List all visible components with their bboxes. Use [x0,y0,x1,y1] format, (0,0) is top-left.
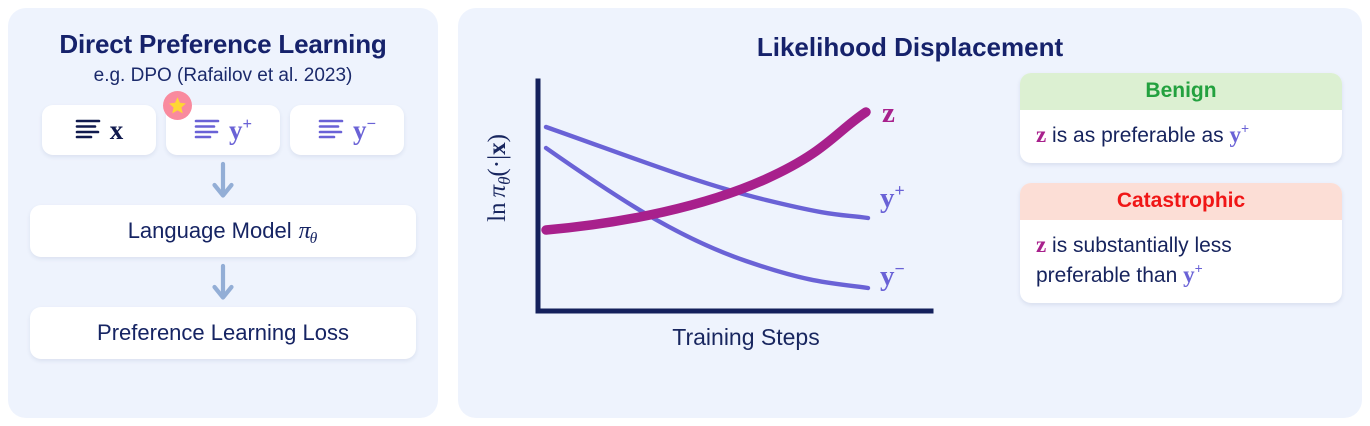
left-panel-title: Direct Preference Learning [30,30,416,59]
token-box-row: x [30,105,416,155]
curve-y-minus [546,148,868,288]
token-symbol-x: x [110,117,124,144]
token-box-dispreferred[interactable]: y− [290,105,404,155]
figure-root: Direct Preference Learning e.g. DPO (Raf… [0,0,1370,426]
symbol-z: z [1036,232,1046,257]
likelihood-displacement-panel: Likelihood Displacement ln πθ(·|x) [458,8,1362,418]
catastrophic-card-body: z is substantially less preferable than … [1020,220,1342,303]
arrow-model-to-loss [30,263,416,303]
preference-learning-loss-box[interactable]: Preference Learning Loss [30,307,416,359]
star-badge-icon [163,91,192,120]
curve-label-y-minus: y− [880,262,905,291]
arrow-tokens-to-model [30,161,416,201]
right-panel-title: Likelihood Displacement [476,32,1344,63]
left-panel-subtitle: e.g. DPO (Rafailov et al. 2023) [30,65,416,88]
catastrophic-card-header: Catastrophic [1020,183,1342,220]
preference-learning-loss-label: Preference Learning Loss [97,320,349,346]
chart-svg [476,69,996,359]
right-panel-body: ln πθ(·|x) z y+ y− Tra [476,69,1344,359]
benign-card: Benign z is as preferable as y+ [1020,73,1342,163]
direct-preference-learning-panel: Direct Preference Learning e.g. DPO (Raf… [8,8,438,418]
language-model-box[interactable]: Language Modelπθ [30,205,416,257]
symbol-y-plus: y+ [1183,262,1203,287]
document-lines-icon [194,117,220,144]
language-model-label: Language Model [128,218,292,244]
symbol-z: z [1036,122,1046,147]
chart-x-axis-label: Training Steps [536,324,956,351]
outcome-cards: Benign z is as preferable as y+ Catastro… [1020,73,1342,303]
curve-label-z: z [882,99,895,128]
benign-card-body: z is as preferable as y+ [1020,110,1342,163]
token-box-prompt[interactable]: x [42,105,156,155]
document-lines-icon [75,117,101,144]
benign-card-text: is as preferable as [1046,124,1229,147]
symbol-y-plus: y+ [1229,122,1249,147]
likelihood-chart: ln πθ(·|x) z y+ y− Tra [476,69,996,359]
pi-theta-symbol: πθ [299,218,319,245]
curve-label-y-plus: y+ [880,184,905,213]
token-box-preferred[interactable]: y+ [166,105,280,155]
chart-y-axis-label: ln πθ(·|x) [484,98,512,258]
document-lines-icon [318,117,344,144]
catastrophic-card: Catastrophic z is substantially less pre… [1020,183,1342,303]
token-symbol-y-plus: y+ [229,117,252,144]
benign-card-header: Benign [1020,73,1342,110]
token-symbol-y-minus: y− [353,117,376,144]
